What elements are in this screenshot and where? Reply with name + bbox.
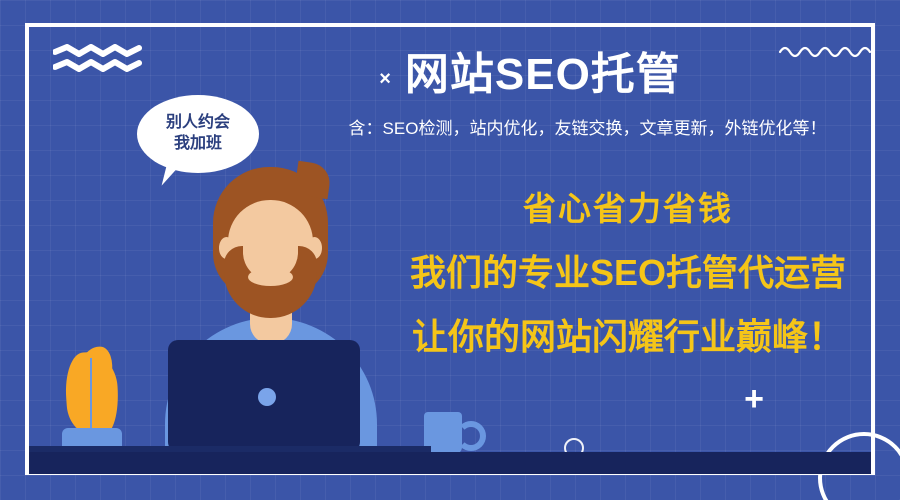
mouth-shape [248, 268, 293, 286]
speech-bubble-line-2: 我加班 [174, 134, 222, 155]
speech-bubble: 别人约会 我加班 [137, 95, 259, 173]
seo-promo-banner: + × 网站SEO托管 含：SEO检测，站内优化，友链交换，文章更新，外链优化等… [0, 0, 900, 500]
speech-bubble-line-1: 别人约会 [166, 113, 230, 134]
plant-stem [90, 358, 92, 434]
desk-icon [29, 452, 871, 474]
laptop-logo-icon [258, 388, 276, 406]
